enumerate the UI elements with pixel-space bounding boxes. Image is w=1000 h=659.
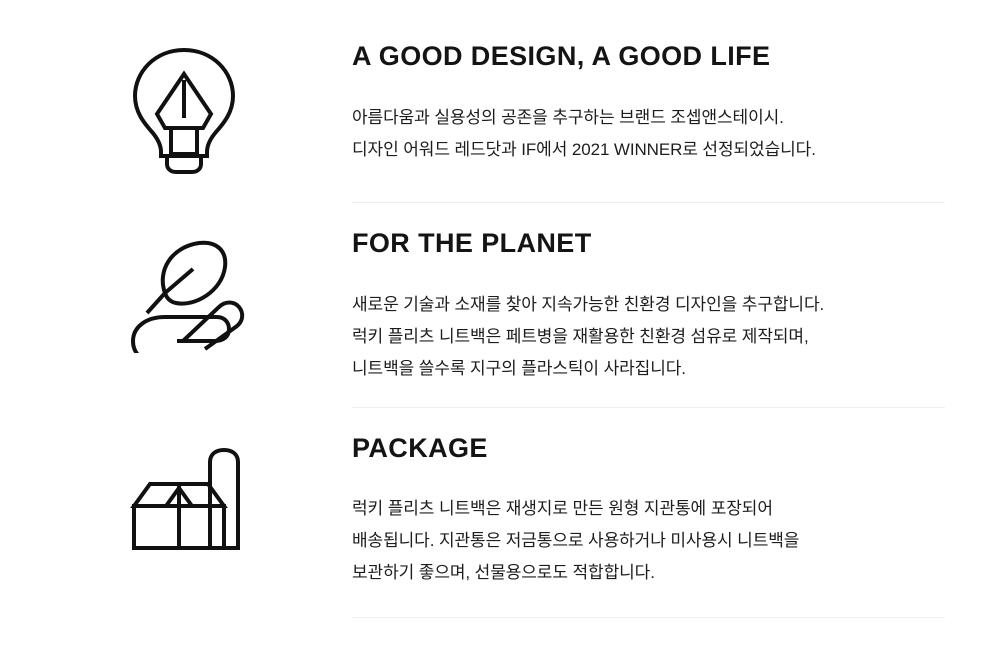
feature-section-design: A GOOD DESIGN, A GOOD LIFE 아름다움과 실용성의 공존… — [0, 0, 1000, 174]
feature-icon-cell — [0, 42, 352, 174]
feature-icon-cell — [0, 434, 352, 560]
body-line: 럭키 플리츠 니트백은 페트병을 재활용한 친환경 섬유로 제작되며, — [352, 321, 945, 353]
body-line: 새로운 기술과 소재를 찾아 지속가능한 친환경 디자인을 추구합니다. — [352, 289, 945, 321]
feature-body-planet: 새로운 기술과 소재를 찾아 지속가능한 친환경 디자인을 추구합니다. 럭키 … — [352, 289, 945, 385]
lightbulb-pen-nib-icon — [125, 44, 243, 174]
body-line: 디자인 어워드 레드닷과 IF에서 2021 WINNER로 선정되었습니다. — [352, 134, 945, 166]
open-box-with-tube-icon — [124, 436, 252, 560]
body-line: 아름다움과 실용성의 공존을 추구하는 브랜드 조셉앤스테이시. — [352, 102, 945, 134]
feature-body-package: 럭키 플리츠 니트백은 재생지로 만든 원형 지관통에 포장되어 배송됩니다. … — [352, 493, 945, 589]
feature-text-cell: A GOOD DESIGN, A GOOD LIFE 아름다움과 실용성의 공존… — [352, 42, 1000, 166]
body-line: 럭키 플리츠 니트백은 재생지로 만든 원형 지관통에 포장되어 — [352, 493, 945, 525]
feature-body-design: 아름다움과 실용성의 공존을 추구하는 브랜드 조셉앤스테이시. 디자인 어워드… — [352, 102, 945, 166]
feature-title-design: A GOOD DESIGN, A GOOD LIFE — [352, 42, 945, 72]
feature-text-cell: FOR THE PLANET 새로운 기술과 소재를 찾아 지속가능한 친환경 … — [352, 229, 1000, 385]
feature-text-cell: PACKAGE 럭키 플리츠 니트백은 재생지로 만든 원형 지관통에 포장되어… — [352, 434, 1000, 590]
body-line: 니트백을 쓸수록 지구의 플라스틱이 사라집니다. — [352, 353, 945, 385]
body-line: 보관하기 좋으며, 선물용으로도 적합합니다. — [352, 557, 945, 589]
feature-list-page: A GOOD DESIGN, A GOOD LIFE 아름다움과 실용성의 공존… — [0, 0, 1000, 659]
feature-title-package: PACKAGE — [352, 434, 945, 464]
feature-section-planet: FOR THE PLANET 새로운 기술과 소재를 찾아 지속가능한 친환경 … — [0, 203, 1000, 385]
feature-section-package: PACKAGE 럭키 플리츠 니트백은 재생지로 만든 원형 지관통에 포장되어… — [0, 408, 1000, 590]
section-divider — [352, 617, 945, 618]
leaf-in-hand-icon — [121, 231, 245, 353]
feature-icon-cell — [0, 229, 352, 353]
body-line: 배송됩니다. 지관통은 저금통으로 사용하거나 미사용시 니트백을 — [352, 525, 945, 557]
section-divider-3-wrap — [0, 617, 1000, 618]
feature-title-planet: FOR THE PLANET — [352, 229, 945, 259]
